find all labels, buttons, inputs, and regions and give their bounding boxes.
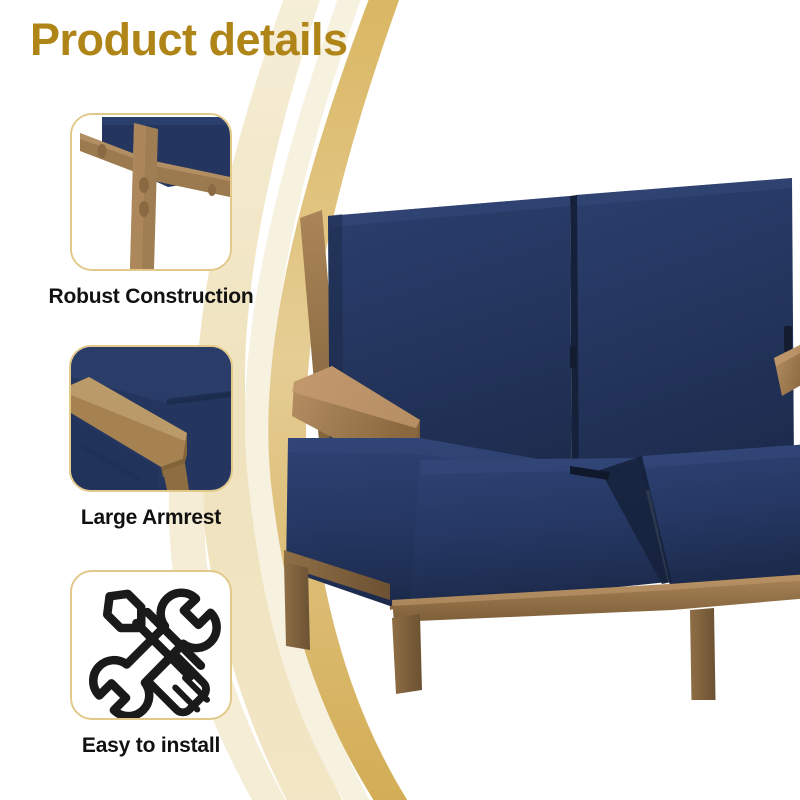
feature-large-armrest[interactable]: Large Armrest (69, 345, 233, 530)
feature-robust-construction[interactable]: Robust Construction (70, 113, 232, 309)
wrench-screwdriver-icon (72, 572, 230, 718)
product-hero-image (270, 170, 800, 700)
armrest-photo (71, 347, 231, 490)
page-title: Product details (30, 14, 348, 66)
feature-image-card (70, 113, 232, 271)
feature-image-card (70, 570, 232, 720)
feature-label: Robust Construction (12, 285, 290, 309)
feature-image-card (69, 345, 233, 492)
product-details-infographic: Product details (0, 0, 800, 800)
feature-label: Large Armrest (43, 506, 259, 530)
frame-joint-photo (72, 115, 230, 269)
feature-easy-to-install[interactable]: Easy to install (70, 570, 232, 758)
feature-label: Easy to install (46, 734, 256, 758)
